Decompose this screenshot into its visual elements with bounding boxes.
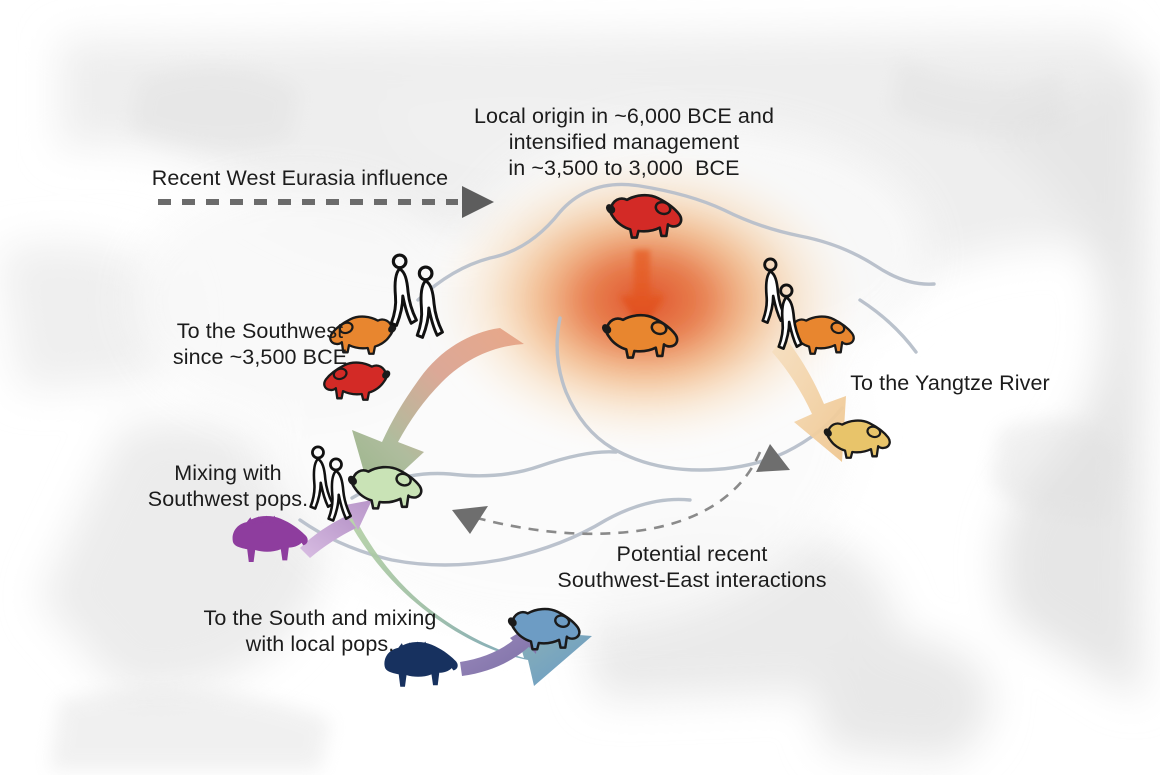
label-south-mixing: To the South and mixing with local pops. <box>186 605 454 657</box>
pig-green-sw <box>349 467 421 508</box>
label-southwest: To the Southwest since ~3,500 BCE <box>150 318 370 370</box>
human-group-northwest <box>391 255 442 337</box>
human-group-east <box>763 259 802 349</box>
pig-yellow-east <box>825 421 890 458</box>
boar-purple <box>233 516 308 562</box>
label-yangtze: To the Yangtze River <box>840 370 1060 396</box>
label-mixing-southwest: Mixing with Southwest pops. <box>128 460 328 512</box>
label-west-eurasia: Recent West Eurasia influence <box>140 165 460 191</box>
figure-canvas: Local origin in ~6,000 BCE and intensifi… <box>0 0 1160 775</box>
pig-red-center <box>607 195 681 237</box>
pig-blue-south <box>509 609 579 649</box>
label-origin: Local origin in ~6,000 BCE and intensifi… <box>424 103 824 181</box>
pig-orange-center <box>603 315 677 357</box>
label-potential-recent: Potential recent Southwest-East interact… <box>542 541 842 593</box>
